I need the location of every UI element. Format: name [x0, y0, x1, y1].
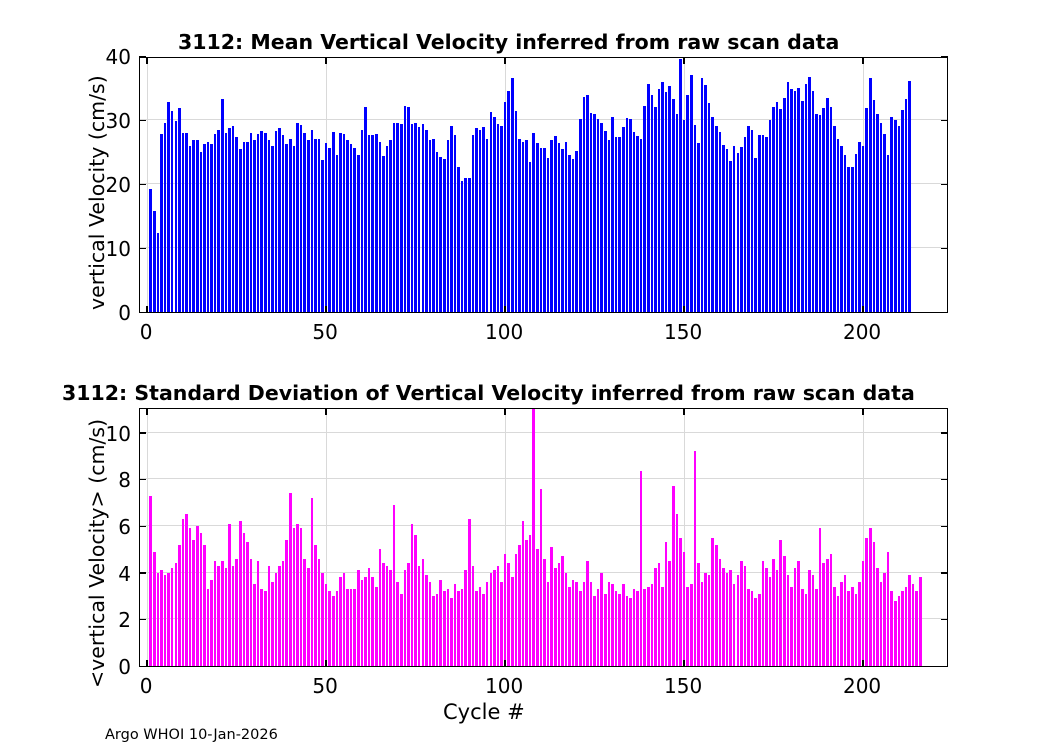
bar: [558, 143, 561, 312]
bar: [608, 582, 611, 666]
bar: [651, 584, 654, 666]
bar: [164, 123, 167, 312]
bar: [787, 575, 790, 666]
bar: [332, 596, 335, 666]
bar: [389, 570, 392, 666]
y-axis-tick: [941, 120, 948, 122]
bar: [898, 596, 901, 666]
bar: [235, 559, 238, 666]
bar: [167, 102, 170, 312]
bar: [353, 148, 356, 312]
x-axis-tick: [325, 57, 327, 64]
bar: [844, 155, 847, 312]
bar: [257, 134, 260, 312]
bar: [482, 127, 485, 312]
x-axis-tick: [862, 57, 864, 64]
bar: [543, 559, 546, 666]
bar: [239, 149, 242, 312]
bar: [568, 587, 571, 666]
bar: [740, 561, 743, 666]
bar: [737, 575, 740, 666]
bar: [833, 587, 836, 666]
bar: [819, 115, 822, 312]
bar: [253, 140, 256, 312]
bar: [400, 594, 403, 666]
bar: [572, 159, 575, 312]
bar: [615, 591, 618, 666]
bar: [289, 139, 292, 312]
y-axis-tick: [941, 56, 948, 58]
bar: [812, 575, 815, 666]
bar: [611, 117, 614, 312]
bar: [461, 589, 464, 666]
bar: [740, 147, 743, 312]
bar: [754, 598, 757, 666]
bar: [629, 598, 632, 666]
bar: [690, 75, 693, 312]
bar: [640, 139, 643, 312]
bar: [676, 114, 679, 312]
bar: [672, 486, 675, 666]
bar: [328, 591, 331, 666]
bar: [264, 591, 267, 666]
bar: [719, 132, 722, 312]
bar: [626, 118, 629, 312]
bar: [371, 135, 374, 312]
bar: [554, 136, 557, 312]
bar: [908, 575, 911, 666]
y-axis-tick: [139, 248, 146, 250]
bar: [432, 139, 435, 312]
y-axis-tick: [941, 479, 948, 481]
bar: [493, 117, 496, 312]
bar: [504, 554, 507, 666]
bar: [833, 126, 836, 312]
bar: [661, 82, 664, 312]
bar: [626, 596, 629, 666]
bar: [783, 98, 786, 312]
x-axis-tick: [504, 57, 506, 64]
bar: [794, 568, 797, 666]
bar: [679, 59, 682, 312]
bar: [658, 563, 661, 666]
bar: [894, 120, 897, 312]
y-axis-title-std: <vertical Velocity> (cm/s): [85, 419, 109, 688]
bar: [726, 149, 729, 312]
bar: [203, 545, 206, 666]
bar: [400, 124, 403, 312]
bar: [608, 140, 611, 312]
bar: [772, 107, 775, 312]
bar: [182, 133, 185, 312]
bar: [815, 114, 818, 312]
bar: [493, 570, 496, 666]
bar: [618, 137, 621, 312]
bar: [600, 123, 603, 312]
bar: [153, 211, 156, 312]
bar: [615, 137, 618, 312]
bar: [708, 103, 711, 312]
bar: [654, 568, 657, 666]
y-axis-tick: [941, 432, 948, 434]
bar: [497, 566, 500, 666]
bar: [332, 132, 335, 312]
bar: [858, 582, 861, 666]
bar: [178, 108, 181, 312]
bar: [715, 545, 718, 666]
bar: [865, 108, 868, 312]
bar: [375, 587, 378, 666]
bar: [840, 146, 843, 312]
bar: [747, 126, 750, 312]
bar: [217, 130, 220, 312]
y-axis-tick: [941, 526, 948, 528]
bar: [722, 145, 725, 312]
bar: [260, 131, 263, 312]
bar: [579, 119, 582, 312]
bar: [207, 142, 210, 312]
bar: [575, 582, 578, 666]
bar: [296, 123, 299, 312]
bar: [851, 587, 854, 666]
bar: [869, 78, 872, 312]
bar: [640, 471, 643, 666]
bar: [468, 178, 471, 312]
bar: [690, 584, 693, 666]
bar: [779, 109, 782, 312]
bar: [228, 128, 231, 312]
plot-area-std: [139, 408, 948, 667]
bar: [468, 519, 471, 666]
bar: [346, 589, 349, 666]
bar: [840, 582, 843, 666]
bar: [339, 577, 342, 666]
y-tick-label: 10: [106, 237, 131, 261]
bar: [160, 570, 163, 666]
bar: [894, 601, 897, 666]
bar: [318, 559, 321, 666]
bar: [353, 589, 356, 666]
bar: [379, 549, 382, 666]
bar: [429, 140, 432, 312]
bar: [479, 130, 482, 312]
bar: [890, 117, 893, 312]
y-tick-label: 30: [106, 109, 131, 133]
y-axis-tick: [139, 312, 146, 314]
bar: [214, 561, 217, 666]
bar: [414, 535, 417, 666]
bar: [192, 140, 195, 312]
bar: [386, 146, 389, 312]
bar: [830, 107, 833, 312]
bar: [772, 559, 775, 666]
bar: [228, 524, 231, 666]
bar: [654, 107, 657, 312]
bar: [336, 591, 339, 666]
bar-series-std: [140, 409, 947, 666]
bar: [525, 140, 528, 312]
x-axis-tick: [683, 660, 685, 667]
bar: [622, 584, 625, 666]
bar: [328, 148, 331, 312]
bar: [153, 552, 156, 666]
bar: [880, 123, 883, 312]
bar: [232, 126, 235, 312]
bar: [776, 570, 779, 666]
bar: [618, 594, 621, 666]
bar: [540, 148, 543, 312]
bar: [697, 563, 700, 666]
bar: [901, 110, 904, 312]
bar: [457, 167, 460, 312]
y-tick-label: 2: [118, 608, 131, 632]
bar: [744, 566, 747, 666]
bar: [303, 133, 306, 312]
bar: [225, 133, 228, 312]
bar: [504, 102, 507, 312]
bar: [443, 591, 446, 666]
bar: [862, 146, 865, 312]
bar: [701, 78, 704, 312]
bar: [264, 133, 267, 312]
bar: [375, 134, 378, 312]
y-tick-label: 10: [106, 422, 131, 446]
bar: [575, 151, 578, 312]
bar: [790, 89, 793, 312]
x-axis-tick: [325, 408, 327, 415]
bar: [898, 126, 901, 312]
x-axis-tick: [683, 306, 685, 313]
x-axis-tick: [146, 57, 148, 64]
bar: [196, 140, 199, 312]
bar: [350, 144, 353, 312]
bar: [593, 114, 596, 312]
bar: [808, 570, 811, 666]
bar: [221, 561, 224, 666]
x-axis-tick: [683, 57, 685, 64]
bar: [260, 589, 263, 666]
bar: [715, 126, 718, 312]
bar: [633, 589, 636, 666]
bar: [765, 137, 768, 312]
plot-frame-mean: [139, 57, 948, 313]
bar: [203, 144, 206, 312]
bar-series-mean: [140, 58, 947, 312]
bar: [862, 561, 865, 666]
bar: [568, 155, 571, 312]
bar: [196, 526, 199, 666]
bar: [500, 126, 503, 312]
bar: [321, 573, 324, 666]
x-axis-tick: [146, 408, 148, 415]
bar: [425, 130, 428, 312]
x-axis-tick: [862, 408, 864, 415]
bar: [232, 566, 235, 666]
bar: [651, 95, 654, 312]
bar: [303, 559, 306, 666]
bar: [597, 119, 600, 312]
bar: [805, 84, 808, 312]
x-axis-title: Cycle #: [443, 700, 525, 724]
bar: [210, 580, 213, 666]
bar: [543, 148, 546, 312]
bar: [457, 591, 460, 666]
bar: [694, 451, 697, 666]
bar: [751, 130, 754, 312]
y-tick-label: 20: [106, 173, 131, 197]
bar: [486, 582, 489, 666]
bar: [160, 134, 163, 312]
bar: [436, 594, 439, 666]
y-tick-label: 40: [106, 45, 131, 69]
bar: [450, 126, 453, 312]
bar: [776, 102, 779, 312]
x-tick-label: 200: [822, 674, 902, 698]
bar: [389, 140, 392, 312]
bar: [361, 580, 364, 666]
bar: [536, 549, 539, 666]
bar: [318, 139, 321, 312]
bar: [754, 158, 757, 312]
x-tick-label: 100: [464, 320, 544, 344]
bar: [672, 99, 675, 312]
bar: [547, 158, 550, 312]
bar: [790, 587, 793, 666]
bar: [285, 540, 288, 666]
y-axis-tick: [941, 184, 948, 186]
bar: [368, 135, 371, 312]
bar: [719, 559, 722, 666]
y-tick-label: 8: [118, 468, 131, 492]
bar: [475, 591, 478, 666]
bar: [253, 584, 256, 666]
bar: [826, 559, 829, 666]
bar: [525, 540, 528, 666]
y-tick-label: 4: [118, 562, 131, 586]
bar: [447, 589, 450, 666]
bar: [915, 591, 918, 666]
bar: [189, 528, 192, 666]
bar: [550, 547, 553, 666]
bar: [808, 77, 811, 312]
bar: [708, 575, 711, 666]
bar: [583, 97, 586, 312]
bar: [282, 135, 285, 312]
bar: [837, 596, 840, 666]
bar: [432, 596, 435, 666]
bar: [321, 160, 324, 312]
bar: [729, 161, 732, 312]
bar: [579, 591, 582, 666]
y-axis-tick: [139, 479, 146, 481]
bar: [454, 584, 457, 666]
bar: [314, 545, 317, 666]
bar: [311, 498, 314, 666]
bar: [887, 155, 890, 312]
bar: [178, 545, 181, 666]
bar: [643, 589, 646, 666]
bar: [336, 155, 339, 312]
x-tick-label: 50: [285, 320, 365, 344]
bar: [439, 157, 442, 312]
bar: [873, 100, 876, 312]
bar: [890, 591, 893, 666]
bar: [783, 556, 786, 666]
bar: [507, 563, 510, 666]
bar: [744, 137, 747, 312]
bar: [490, 573, 493, 666]
bar: [550, 140, 553, 312]
bar: [472, 566, 475, 666]
bar: [239, 521, 242, 666]
bar: [243, 533, 246, 666]
bar: [844, 575, 847, 666]
bar: [636, 591, 639, 666]
bar: [278, 566, 281, 666]
bar: [694, 125, 697, 312]
bar: [246, 142, 249, 312]
bar: [769, 120, 772, 312]
x-axis-tick: [325, 660, 327, 667]
bar: [175, 563, 178, 666]
bar: [429, 582, 432, 666]
bar: [447, 140, 450, 312]
bar: [887, 552, 890, 666]
bar: [300, 528, 303, 666]
bar: [701, 582, 704, 666]
bar: [189, 146, 192, 312]
bar: [475, 128, 478, 312]
bar: [572, 580, 575, 666]
bar: [883, 573, 886, 666]
bar: [235, 137, 238, 312]
x-axis-tick: [325, 306, 327, 313]
y-axis-tick: [139, 120, 146, 122]
bar: [149, 496, 152, 666]
bar: [529, 162, 532, 312]
bar: [217, 566, 220, 666]
x-tick-label: 200: [822, 320, 902, 344]
bar: [175, 121, 178, 312]
bar: [422, 124, 425, 312]
bar: [518, 545, 521, 666]
bar: [511, 577, 514, 666]
bar: [876, 114, 879, 312]
bar: [797, 88, 800, 312]
bar: [368, 568, 371, 666]
bar: [418, 566, 421, 666]
x-tick-label: 0: [106, 674, 186, 698]
bar: [314, 139, 317, 312]
bar: [343, 134, 346, 312]
bar: [851, 167, 854, 312]
bar: [418, 127, 421, 312]
bar: [386, 566, 389, 666]
y-axis-tick: [139, 56, 146, 58]
bar: [325, 143, 328, 312]
bar: [676, 514, 679, 666]
bar: [268, 140, 271, 312]
bar: [407, 563, 410, 666]
y-axis-tick: [941, 248, 948, 250]
bar: [350, 589, 353, 666]
x-axis-tick: [146, 306, 148, 313]
bar: [912, 584, 915, 666]
bar: [210, 144, 213, 312]
bar: [819, 528, 822, 666]
bar: [275, 573, 278, 666]
bar: [257, 561, 260, 666]
